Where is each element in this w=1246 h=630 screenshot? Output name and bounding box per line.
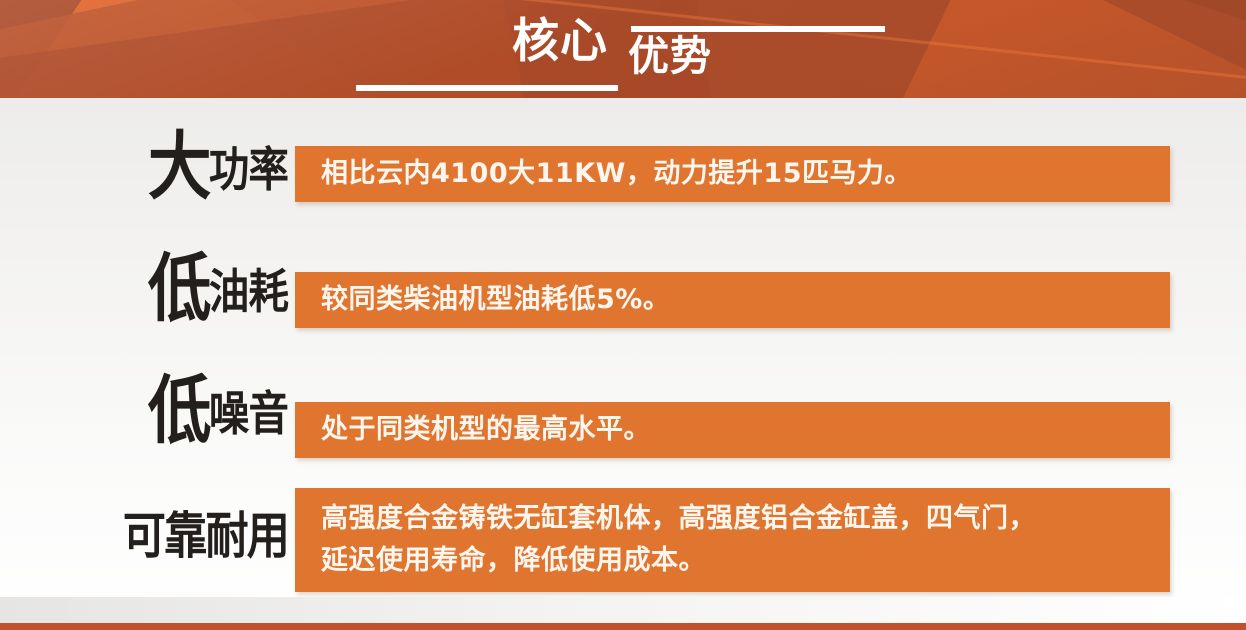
title-rule-bottom xyxy=(356,85,618,91)
advantage-bar: 处于同类机型的最高水平。 xyxy=(295,402,1170,458)
advantage-label-durability: 可靠耐用 xyxy=(40,514,288,559)
advantage-bar-line: 较同类柴油机型油耗低5%。 xyxy=(295,280,686,320)
page-title-main: 核心 xyxy=(512,18,608,65)
poster-root: 核心 优势 大功率 相比云内4100大11KW，动力提升15匹马力。 低油耗 较 xyxy=(0,0,1246,630)
page-title-sub: 优势 xyxy=(628,36,712,77)
advantage-bar-text: 相比云内4100大11KW，动力提升15匹马力。 xyxy=(295,154,928,194)
advantage-list: 大功率 相比云内4100大11KW，动力提升15匹马力。 低油耗 较同类柴油机型… xyxy=(0,98,1246,610)
advantage-bar-text: 处于同类机型的最高水平。 xyxy=(295,410,667,450)
advantage-label-fuel: 低油耗 xyxy=(40,256,288,323)
advantage-bar-line: 高强度合金铸铁无缸套机体，高强度铝合金缸盖，四气门， xyxy=(295,499,1052,541)
header-title-group: 核心 优势 xyxy=(0,0,1246,98)
advantage-label-big: 低 xyxy=(148,368,209,454)
advantage-bar: 高强度合金铸铁无缸套机体，高强度铝合金缸盖，四气门， 延迟使用寿命，降低使用成本… xyxy=(295,488,1170,592)
advantage-label-small: 油耗 xyxy=(209,265,288,320)
advantage-bar: 相比云内4100大11KW，动力提升15匹马力。 xyxy=(295,146,1170,202)
footer-fade xyxy=(0,597,1246,623)
advantage-bar-line: 延迟使用寿命，降低使用成本。 xyxy=(295,541,1052,581)
advantage-bar-line: 相比云内4100大11KW，动力提升15匹马力。 xyxy=(295,154,928,194)
advantage-label-small: 噪音 xyxy=(209,387,288,442)
advantage-label-noise: 低噪音 xyxy=(40,378,288,445)
advantage-label-small: 功率 xyxy=(209,143,288,198)
advantage-bar: 较同类柴油机型油耗低5%。 xyxy=(295,272,1170,328)
advantage-label-power: 大功率 xyxy=(40,134,288,201)
advantage-label-small: 可靠耐用 xyxy=(123,507,288,565)
advantage-label-big: 大 xyxy=(148,124,209,210)
header-banner: 核心 优势 xyxy=(0,0,1246,98)
advantage-bar-line: 处于同类机型的最高水平。 xyxy=(295,410,667,450)
advantage-label-big: 低 xyxy=(148,246,209,332)
footer-accent-line xyxy=(0,623,1246,630)
advantage-bar-text: 高强度合金铸铁无缸套机体，高强度铝合金缸盖，四气门， 延迟使用寿命，降低使用成本… xyxy=(295,499,1052,581)
advantage-bar-text: 较同类柴油机型油耗低5%。 xyxy=(295,280,686,320)
